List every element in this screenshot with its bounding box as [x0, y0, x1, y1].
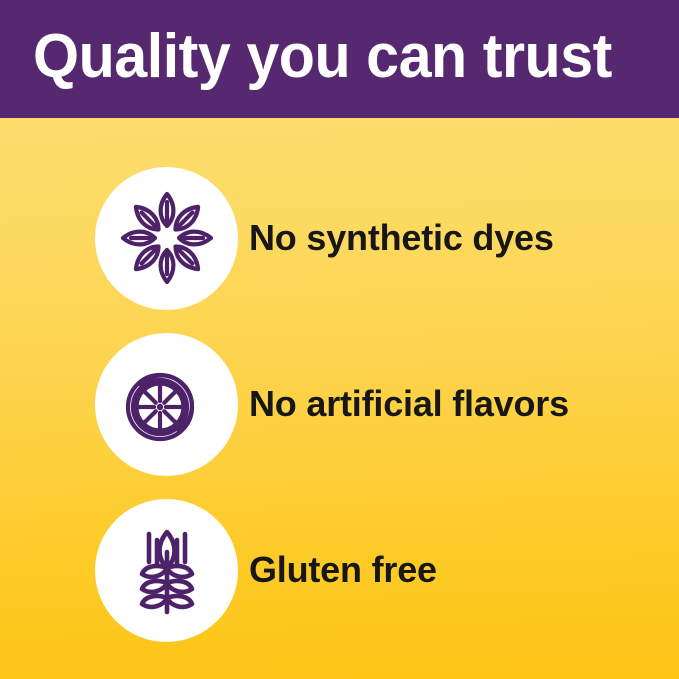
feature-row: Gluten free: [0, 495, 679, 645]
feature-label: No artificial flavors: [249, 384, 569, 424]
wheat-stalk-icon: [115, 518, 219, 622]
icon-badge: [95, 167, 238, 310]
feature-row: No artificial flavors: [0, 329, 679, 479]
feature-list: No synthetic dyes: [0, 118, 679, 679]
flower-petals-icon: [115, 186, 219, 290]
citrus-slice-icon: [115, 352, 219, 456]
page-title: Quality you can trust: [33, 21, 635, 93]
feature-row: No synthetic dyes: [0, 163, 679, 313]
feature-label: No synthetic dyes: [249, 218, 554, 258]
quality-claims-poster: Quality you can trust: [0, 0, 679, 679]
icon-badge: [95, 333, 238, 476]
feature-label: Gluten free: [249, 550, 437, 590]
icon-badge: [95, 499, 238, 642]
header-band: Quality you can trust: [0, 0, 679, 118]
